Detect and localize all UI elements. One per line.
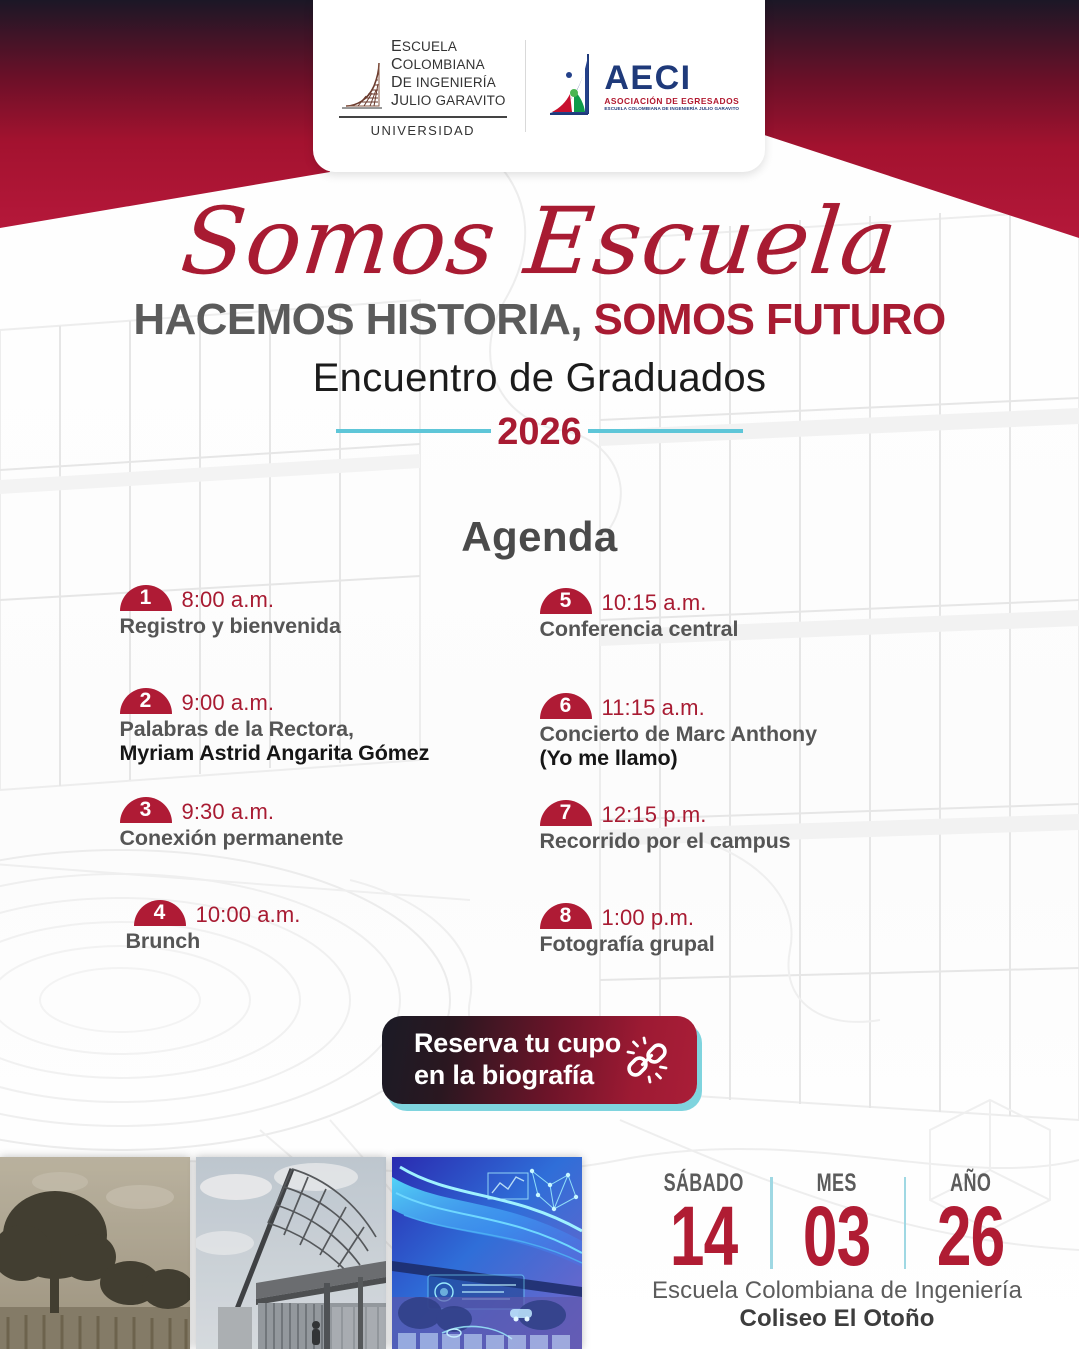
- agenda-item: 8 1:00 p.m. Fotografía grupal: [540, 903, 960, 956]
- script-title: Somos Escuela: [0, 196, 1079, 288]
- agenda-time: 11:15 a.m.: [602, 697, 705, 719]
- cta-wrapper: Reserva tu cupo en la biografía: [0, 1016, 1079, 1104]
- agenda-time: 12:15 p.m.: [602, 804, 707, 826]
- year-value: 2026: [491, 411, 588, 454]
- aeci-figure-mark: [544, 50, 600, 122]
- year-rule-left: [336, 429, 491, 433]
- agenda-column-left: 1 8:00 a.m. Registro y bienvenida 2 9:00…: [120, 585, 540, 956]
- agenda-item: 2 9:00 a.m. Palabras de la Rectora, Myri…: [120, 688, 540, 765]
- date-column-day: SÁBADO 14: [637, 1171, 770, 1275]
- agenda-badge: 2: [120, 688, 172, 714]
- university-logo: Escuela Colombiana de Ingeniería Julio G…: [339, 34, 507, 137]
- broken-link-icon: [623, 1036, 671, 1084]
- agenda-item: 3 9:30 a.m. Conexión permanente: [120, 797, 540, 850]
- agenda-column-right: 5 10:15 a.m. Conferencia central 6 11:15…: [540, 585, 960, 956]
- headline-block: Somos Escuela HACEMOS HISTORIA, SOMOS FU…: [0, 196, 1079, 452]
- year-line: 2026: [0, 409, 1079, 452]
- university-line-2: Colombiana: [391, 56, 506, 74]
- event-name: Encuentro de Graduados: [0, 356, 1079, 401]
- agenda-item: 4 10:00 a.m. Brunch: [120, 900, 540, 953]
- venue-line-2: Coliseo El Otoño: [637, 1305, 1037, 1333]
- agenda-time: 9:30 a.m.: [182, 801, 275, 823]
- agenda-title: Agenda: [0, 513, 1079, 561]
- agenda-item: 1 8:00 a.m. Registro y bienvenida: [120, 585, 540, 638]
- agenda-item: 7 12:15 p.m. Recorrido por el campus: [540, 800, 960, 853]
- university-line-3: de Ingeniería: [391, 74, 506, 92]
- agenda-desc: Fotografía grupal: [540, 932, 960, 956]
- date-block: SÁBADO 14 MES 03 AÑO 26 Escuela Colombia…: [637, 1171, 1037, 1333]
- agenda-badge: 6: [540, 693, 592, 719]
- agenda-desc: Concierto de Marc Anthony (Yo me llamo): [540, 722, 960, 770]
- agenda-desc: Brunch: [120, 929, 540, 953]
- university-line-1: Escuela: [391, 38, 506, 56]
- date-column-year: AÑO 26: [904, 1171, 1037, 1275]
- reserve-spot-button[interactable]: Reserva tu cupo en la biografía: [382, 1016, 697, 1104]
- agenda-badge: 7: [540, 800, 592, 826]
- agenda-badge: 5: [540, 588, 592, 614]
- university-rule: [339, 116, 507, 117]
- agenda-time: 9:00 a.m.: [182, 692, 275, 714]
- date-columns: SÁBADO 14 MES 03 AÑO 26: [637, 1171, 1037, 1275]
- aeci-subtitle: ASOCIACIÓN DE EGRESADOS: [604, 97, 739, 105]
- agenda-badge: 4: [134, 900, 186, 926]
- agenda-desc: Recorrido por el campus: [540, 829, 960, 853]
- agenda-desc: Conexión permanente: [120, 826, 540, 850]
- agenda-desc-line2: Myriam Astrid Angarita Gómez: [120, 741, 540, 765]
- agenda-desc: Registro y bienvenida: [120, 614, 540, 638]
- aeci-logo: AECI ASOCIACIÓN DE EGRESADOS ESCUELA COL…: [544, 50, 739, 122]
- photo-campus-trees-sepia: [0, 1157, 190, 1349]
- aeci-subtitle-2: ESCUELA COLOMBIANA DE INGENIERÍA JULIO G…: [604, 107, 739, 112]
- agenda-time: 10:00 a.m.: [196, 904, 301, 926]
- eci-curve-mark: [340, 60, 384, 110]
- cta-line-2: en la biografía: [414, 1060, 621, 1092]
- aeci-acronym: AECI: [604, 61, 739, 95]
- logo-card: Escuela Colombiana de Ingeniería Julio G…: [313, 0, 765, 172]
- agenda-item: 6 11:15 a.m. Concierto de Marc Anthony (…: [540, 693, 960, 770]
- agenda-desc-line2: (Yo me llamo): [540, 746, 960, 770]
- agenda-time: 1:00 p.m.: [602, 907, 695, 929]
- photo-campus-tech-blue: [392, 1157, 582, 1349]
- agenda-desc: Conferencia central: [540, 617, 960, 641]
- logo-divider: [525, 40, 527, 132]
- subheadline: HACEMOS HISTORIA, SOMOS FUTURO: [0, 298, 1079, 342]
- agenda-time: 8:00 a.m.: [182, 589, 275, 611]
- cta-line-1: Reserva tu cupo: [414, 1028, 621, 1058]
- university-kind: UNIVERSIDAD: [371, 123, 475, 138]
- subheadline-red: SOMOS FUTURO: [594, 295, 946, 344]
- agenda-desc-line1: Concierto de Marc Anthony: [540, 722, 817, 746]
- agenda-badge: 8: [540, 903, 592, 929]
- agenda-badge: 1: [120, 585, 172, 611]
- agenda-item: 5 10:15 a.m. Conferencia central: [540, 588, 960, 641]
- university-line-4: Julio Garavito: [391, 92, 506, 110]
- agenda-desc: Palabras de la Rectora, Myriam Astrid An…: [120, 717, 540, 765]
- agenda-badge: 3: [120, 797, 172, 823]
- date-value: 03: [792, 1198, 882, 1275]
- date-column-month: MES 03: [770, 1171, 903, 1275]
- poster-root: Escuela Colombiana de Ingeniería Julio G…: [0, 0, 1079, 1349]
- date-value: 26: [925, 1198, 1015, 1275]
- year-rule-right: [588, 429, 743, 433]
- photo-strip: [0, 1157, 582, 1349]
- photo-campus-building-bw: [196, 1157, 386, 1349]
- date-value: 14: [659, 1198, 749, 1275]
- cta-label: Reserva tu cupo en la biografía: [414, 1028, 621, 1092]
- agenda-grid: 1 8:00 a.m. Registro y bienvenida 2 9:00…: [0, 585, 1079, 956]
- agenda-desc-line1: Palabras de la Rectora,: [120, 717, 354, 741]
- subheadline-grey: HACEMOS HISTORIA,: [133, 295, 582, 344]
- agenda-time: 10:15 a.m.: [602, 592, 707, 614]
